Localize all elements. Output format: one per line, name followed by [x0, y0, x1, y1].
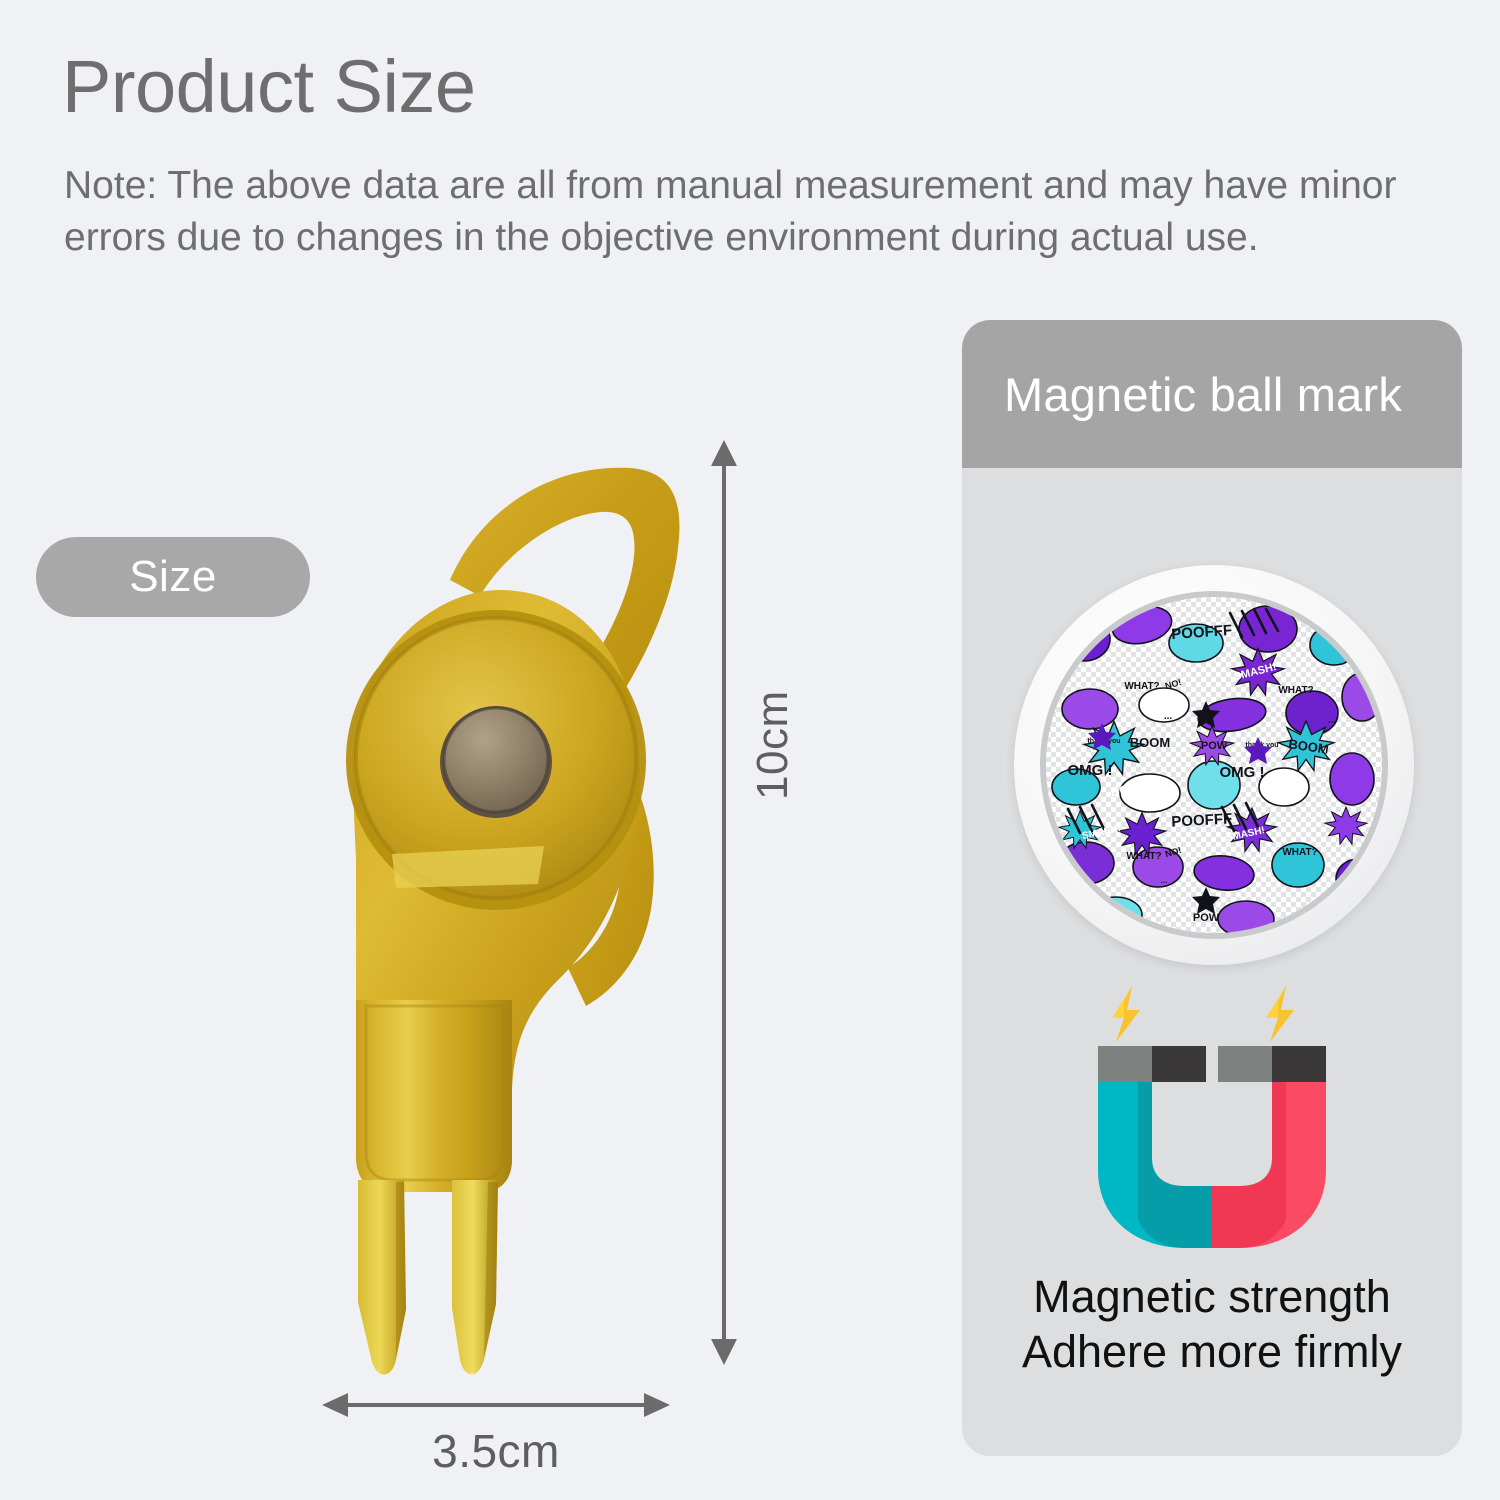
panel-title: Magnetic ball mark	[962, 367, 1402, 422]
svg-text:OMG !: OMG !	[1068, 762, 1113, 779]
svg-text:POOFFF: POOFFF	[1171, 810, 1233, 830]
width-dimension-label: 3.5cm	[322, 1424, 670, 1478]
width-arrow-head-right	[644, 1393, 670, 1417]
divot-tool-svg	[300, 440, 700, 1390]
svg-text:WHAT?: WHAT?	[1124, 681, 1159, 692]
size-badge: Size	[36, 537, 310, 617]
magnetic-ball-mark-panel: Magnetic ball mark	[962, 320, 1462, 1456]
panel-header: Magnetic ball mark	[962, 320, 1462, 468]
svg-text:POW: POW	[1193, 912, 1220, 924]
magnet-cap-right-light	[1218, 1046, 1272, 1082]
svg-text:POW: POW	[1201, 740, 1228, 752]
magnet-left-shade	[1138, 1080, 1212, 1248]
svg-text:WHAT?: WHAT?	[1126, 851, 1161, 862]
svg-text:OMG !: OMG !	[1220, 764, 1265, 781]
svg-text:...: ...	[1328, 715, 1337, 726]
height-arrow-head-bottom	[711, 1339, 737, 1365]
height-dimension-label: 10cm	[748, 690, 798, 800]
golf-divot-tool-image	[300, 440, 700, 1390]
comic-pattern: POOFFF SMASH! WHAT? WHAT? NO! BOOM BOOM …	[1046, 597, 1382, 933]
svg-text:WHAT?: WHAT?	[1278, 685, 1313, 696]
magnet-caption-line-2: Adhere more firmly	[962, 1325, 1462, 1380]
magnet-right-shade	[1212, 1080, 1286, 1248]
size-badge-label: Size	[129, 552, 217, 602]
magnet-cap-left-dark	[1152, 1046, 1206, 1082]
ball-marker-image: POOFFF SMASH! WHAT? WHAT? NO! BOOM BOOM …	[1014, 565, 1414, 965]
horseshoe-magnet-icon	[1090, 980, 1334, 1252]
height-dimension-arrow	[706, 440, 742, 1365]
svg-text:WHAT?: WHAT?	[1282, 847, 1317, 858]
tool-shaft	[356, 1000, 512, 1192]
width-arrow-head-left	[322, 1393, 348, 1417]
svg-text:BOOM: BOOM	[1130, 735, 1170, 750]
height-arrow-head-top	[711, 440, 737, 466]
magnet-cap-right-dark	[1272, 1046, 1326, 1082]
spark-icon	[1112, 986, 1294, 1042]
ball-marker-face: POOFFF SMASH! WHAT? WHAT? NO! BOOM BOOM …	[1046, 597, 1382, 933]
magnet-cap-left-light	[1098, 1046, 1152, 1082]
width-dimension-arrow	[322, 1388, 670, 1422]
magnet-caption: Magnetic strength Adhere more firmly	[962, 1270, 1462, 1380]
measurement-note: Note: The above data are all from manual…	[64, 160, 1464, 264]
page-title: Product Size	[62, 50, 476, 124]
magnet-caption-line-1: Magnetic strength	[962, 1270, 1462, 1325]
tool-prong-left-shade	[396, 1182, 406, 1358]
svg-text:...: ...	[1164, 711, 1173, 722]
svg-text:...: ...	[1161, 876, 1168, 885]
